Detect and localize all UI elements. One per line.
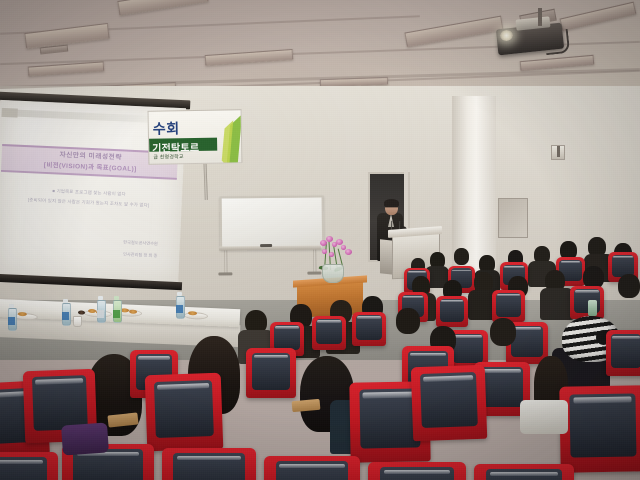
auditorium-seat[interactable] [352, 312, 386, 346]
wall-speaker-detail [557, 146, 560, 157]
auditorium-seat[interactable] [474, 464, 574, 480]
ceiling-light-fixture [560, 2, 637, 32]
auditorium-seat[interactable] [368, 462, 466, 480]
phone-icon [588, 300, 597, 316]
auditorium-seat[interactable] [559, 385, 640, 472]
attendee-bag [61, 422, 109, 455]
slide-header-tab [1, 108, 17, 118]
auditorium-seat[interactable] [162, 448, 256, 480]
slide-credit-line-1: 한국철도공사연수원 [123, 240, 158, 248]
ceiling-light-fixture [117, 0, 208, 16]
ceiling-air-vent [40, 45, 69, 55]
projector-mount [538, 8, 542, 26]
attendee-head [396, 308, 420, 334]
ceiling-light-fixture [205, 49, 294, 66]
auditorium-seat[interactable] [312, 316, 346, 350]
speaker-hair [384, 199, 399, 207]
whiteboard [220, 195, 325, 250]
ceiling-light-fixture [404, 16, 503, 48]
attendee-coat [520, 400, 568, 434]
auditorium-seat[interactable] [246, 348, 296, 398]
auditorium-seat[interactable] [436, 296, 468, 327]
wall-access-panel [498, 198, 528, 238]
lecture-hall-photo: PowerPoint 자신만의 미래성전략 [비전(VISION)과 목표(GO… [0, 0, 640, 480]
snack [78, 310, 85, 314]
auditorium-seat[interactable] [570, 286, 604, 319]
orchid-vase [322, 264, 344, 283]
snack [88, 309, 96, 313]
auditorium-seat[interactable] [411, 365, 488, 442]
snack [188, 311, 197, 315]
attendee-body [540, 288, 574, 320]
attendee-head [618, 274, 640, 298]
attendee-head [454, 248, 469, 265]
whiteboard-marker [260, 244, 272, 247]
event-banner: 수회 기전탁토르 급 천명경학교 [148, 109, 243, 165]
slide-credit-line-2: 인사관리팀 정 희 중 [123, 252, 158, 260]
paper-cup [73, 316, 82, 327]
attendee-head [490, 318, 516, 346]
auditorium-seat[interactable] [145, 373, 224, 452]
whiteboard-assembly [220, 195, 323, 274]
auditorium-seat[interactable] [0, 452, 58, 480]
auditorium-seat[interactable] [264, 456, 360, 480]
snack [129, 310, 137, 314]
snack [18, 312, 27, 316]
banner-heading: 수회 [153, 118, 180, 138]
banner-footnote: 급 천명경학교 [153, 153, 184, 161]
auditorium-seat[interactable] [606, 330, 640, 376]
auditorium-seat[interactable] [492, 290, 525, 322]
